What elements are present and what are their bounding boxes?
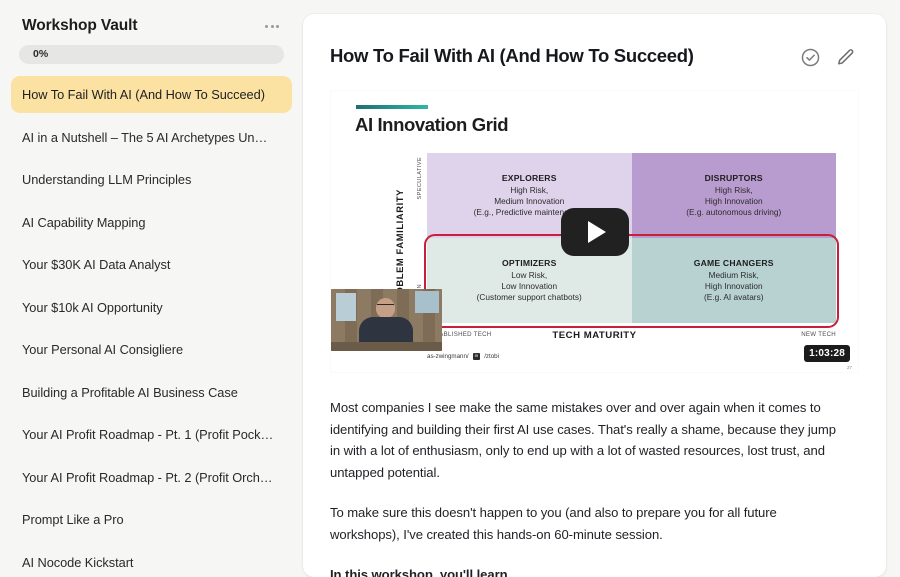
app-root: Workshop Vault 0% How To Fail With AI (A… [0,0,900,577]
page-title: How To Fail With AI (And How To Succeed) [330,44,694,68]
sidebar-item[interactable]: Your AI Profit Roadmap - Pt. 2 (Profit O… [11,459,292,496]
slide-credit-text: as-zwingmann/ [427,353,469,360]
kebab-menu-icon[interactable] [263,19,281,34]
video-duration: 1:03:28 [804,345,850,362]
grid-quadrant-title: OPTIMIZERS [502,258,557,268]
sidebar-item[interactable]: Your Personal AI Consigliere [11,331,292,368]
description-paragraph: Most companies I see make the same mista… [330,397,846,483]
grid-quadrant-title: DISRUPTORS [705,173,763,183]
sidebar-item[interactable]: Your $30K AI Data Analyst [11,246,292,283]
sidebar-item[interactable]: AI in a Nutshell – The 5 AI Archetypes U… [11,119,292,156]
grid-quadrant: GAME CHANGERSMedium Risk,High Innovation… [632,238,837,323]
grid-quadrant-title: GAME CHANGERS [694,258,774,268]
main-content: How To Fail With AI (And How To Succeed) [303,0,900,577]
sidebar-item[interactable]: AI Capability Mapping [11,204,292,241]
slide-title: AI Innovation Grid [355,114,508,136]
sidebar-list: How To Fail With AI (And How To Succeed)… [0,76,303,577]
grid-quadrant-line: High Innovation [705,196,763,207]
grid-quadrant-line: Low Risk, [511,270,547,281]
chart-x-tick-right: NEW TECH [801,331,836,338]
progress-bar: 0% [19,45,284,64]
grid-quadrant-line: High Innovation [705,281,763,292]
sidebar-item[interactable]: Building a Profitable AI Business Case [11,374,292,411]
innovation-grid: EXPLORERSHigh Risk,Medium Innovation(E.g… [427,153,836,323]
grid-quadrant-line: (E.g. AI avatars) [704,292,763,303]
slide-number: 27 [847,365,852,370]
grid-quadrant-title: EXPLORERS [502,173,557,183]
slide-credit: as-zwingmann/ in /ztobi [427,353,499,360]
slide-accent-bar [356,105,428,109]
progress-label: 0% [33,45,48,64]
grid-quadrant-line: Low Innovation [501,281,557,292]
header-actions [800,44,856,68]
lesson-description: Most companies I see make the same mista… [303,373,886,577]
play-triangle [588,221,606,243]
description-paragraph: To make sure this doesn't happen to you … [330,502,846,545]
presenter-head [376,298,395,318]
slide-credit-handle: /ztobi [484,353,499,360]
presenter-glasses [377,304,394,308]
sidebar-item[interactable]: Understanding LLM Principles [11,161,292,198]
webcam-window-right [415,291,439,313]
linkedin-icon: in [473,353,481,360]
sidebar-item[interactable]: Your $10k AI Opportunity [11,289,292,326]
sidebar-item[interactable]: AI Nocode Kickstart [11,544,292,577]
chart-y-tick-top: SPECULATIVE [417,157,423,200]
play-icon[interactable] [561,208,629,256]
video-player[interactable]: AI Innovation Grid PROBLEM FAMILIARITY S… [330,90,859,373]
presenter-webcam-thumbnail [331,289,442,351]
lesson-header: How To Fail With AI (And How To Succeed) [303,14,886,68]
webcam-window-left [336,293,356,321]
check-circle-icon[interactable] [800,47,821,68]
grid-quadrant-line: Medium Risk, [709,270,759,281]
pencil-icon[interactable] [835,47,856,68]
webcam-desk [331,342,442,351]
sidebar-title: Workshop Vault [22,17,137,35]
sidebar-item[interactable]: Your AI Profit Roadmap - Pt. 1 (Profit P… [11,416,292,453]
grid-quadrant-line: High Risk, [715,185,753,196]
description-heading: In this workshop, you'll learn [330,564,846,577]
grid-quadrant: DISRUPTORSHigh Risk,High Innovation(E.g.… [632,153,837,238]
sidebar: Workshop Vault 0% How To Fail With AI (A… [0,0,303,577]
grid-quadrant-line: Medium Innovation [494,196,564,207]
sidebar-item[interactable]: Prompt Like a Pro [11,501,292,538]
grid-quadrant-line: (Customer support chatbots) [477,292,582,303]
grid-quadrant-line: High Risk, [510,185,548,196]
grid-quadrant-line: (E.g. autonomous driving) [686,207,781,218]
lesson-card: How To Fail With AI (And How To Succeed) [303,14,886,577]
sidebar-item-active[interactable]: How To Fail With AI (And How To Succeed) [11,76,292,113]
sidebar-header: Workshop Vault [0,0,303,35]
